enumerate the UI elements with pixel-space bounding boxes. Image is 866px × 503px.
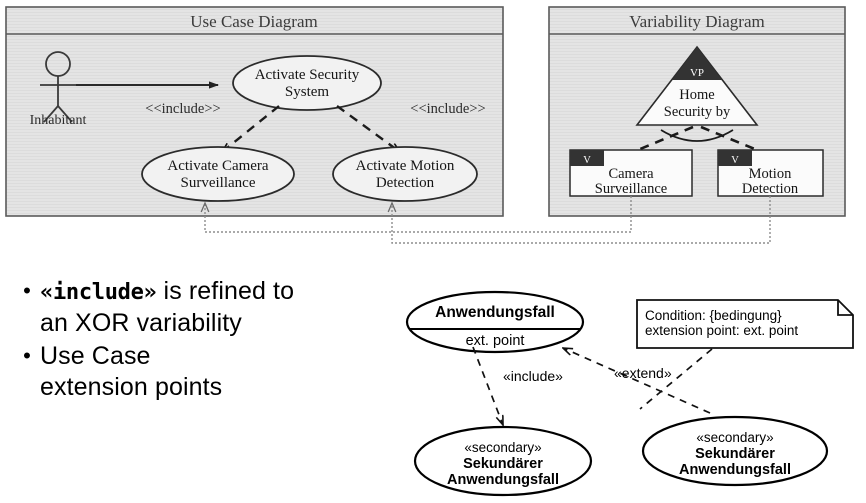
bullet-list: • «include» is refined to an XOR variabi… (14, 276, 414, 405)
use-case-activate-security-system-line2: System (285, 84, 330, 100)
bullet-item-include-refined-line2: an XOR variability (40, 309, 242, 337)
use-case-diagram-title: Use Case Diagram (190, 12, 317, 31)
use-case-secondary-left-stereotype: «secondary» (464, 440, 541, 455)
variation-point-badge: VP (690, 67, 704, 79)
use-case-detail-diagram: Anwendungsfall ext. point Condition: {be… (407, 292, 853, 495)
use-case-activate-security-system: Activate Security System (233, 56, 381, 110)
bullet-item-extension-points-rest: Use Case (40, 342, 151, 370)
variant-motion-detection-badge: V (731, 155, 739, 166)
use-case-activate-camera-surveillance: Activate Camera Surveillance (142, 147, 294, 201)
bullet-item-extension-points-line2: extension points (40, 373, 222, 401)
use-case-secondary-left-line2: Anwendungsfall (447, 472, 559, 488)
bullet-marker-icon: • (14, 276, 40, 306)
extend-dependency-label: «extend» (614, 365, 672, 381)
use-case-activate-motion-detection-line2: Detection (376, 175, 435, 191)
variant-camera-surveillance-badge: V (583, 155, 591, 166)
variant-motion-detection-line1: Motion (749, 166, 792, 182)
variant-camera-surveillance-line1: Camera (608, 166, 654, 182)
slide-canvas: Use Case Diagram Inhabitant Activate Sec… (0, 0, 866, 503)
note-condition-line2: extension point: ext. point (645, 323, 798, 338)
variant-camera-surveillance-line2: Surveillance (595, 181, 667, 197)
use-case-secondary-right-stereotype: «secondary» (696, 430, 773, 445)
bullet-item-include-refined: • «include» is refined to an XOR variabi… (14, 276, 414, 339)
variation-point-line1: Home (679, 87, 714, 103)
bullet-item-extension-points-text: Use Case extension points (40, 341, 222, 403)
bullet-item-include-refined-rest: is refined to (157, 277, 295, 305)
bullet-item-include-refined-text: «include» is refined to an XOR variabili… (40, 276, 294, 339)
use-case-secondary-right-line1: Sekundärer (695, 446, 775, 462)
use-case-secondary-left-line1: Sekundärer (463, 456, 543, 472)
bullet-item-extension-points: • Use Case extension points (14, 341, 414, 403)
use-case-secondary-left: «secondary» Sekundärer Anwendungsfall (415, 427, 591, 495)
include-dependency-label: «include» (503, 368, 563, 384)
use-case-activate-camera-surveillance-line2: Surveillance (181, 175, 256, 191)
use-case-activate-motion-detection: Activate Motion Detection (333, 147, 477, 201)
variation-point-line2: Security by (664, 104, 731, 120)
note-condition: Condition: {bedingung} extension point: … (637, 300, 853, 348)
variability-diagram-frame: Variability Diagram VP Home Security by … (549, 7, 845, 216)
use-case-activate-camera-surveillance-line1: Activate Camera (167, 158, 269, 174)
use-case-diagram-frame: Use Case Diagram Inhabitant Activate Sec… (6, 7, 503, 216)
include-label-left: <<include>> (145, 101, 220, 117)
variant-motion-detection: V Motion Detection (718, 150, 823, 197)
bullet-marker-icon-2: • (14, 341, 40, 371)
use-case-anwendungsfall-name: Anwendungsfall (435, 304, 555, 321)
variability-diagram-title: Variability Diagram (629, 12, 765, 31)
diagram-layer: Use Case Diagram Inhabitant Activate Sec… (0, 0, 866, 503)
variant-camera-surveillance: V Camera Surveillance (570, 150, 692, 197)
use-case-secondary-right-line2: Anwendungsfall (679, 462, 791, 478)
variant-motion-detection-line2: Detection (742, 181, 799, 197)
include-dependency-arrow (473, 347, 503, 425)
include-label-right: <<include>> (410, 101, 485, 117)
use-case-secondary-right: «secondary» Sekundärer Anwendungsfall (643, 417, 827, 485)
use-case-anwendungsfall-ext-point: ext. point (466, 333, 525, 349)
note-condition-line1: Condition: {bedingung} (645, 308, 782, 323)
actor-label: Inhabitant (30, 113, 87, 128)
use-case-activate-motion-detection-line1: Activate Motion (356, 158, 455, 174)
use-case-anwendungsfall: Anwendungsfall ext. point (407, 292, 583, 352)
bullet-keyword-include: «include» (40, 280, 157, 305)
use-case-activate-security-system-line1: Activate Security (255, 67, 360, 83)
